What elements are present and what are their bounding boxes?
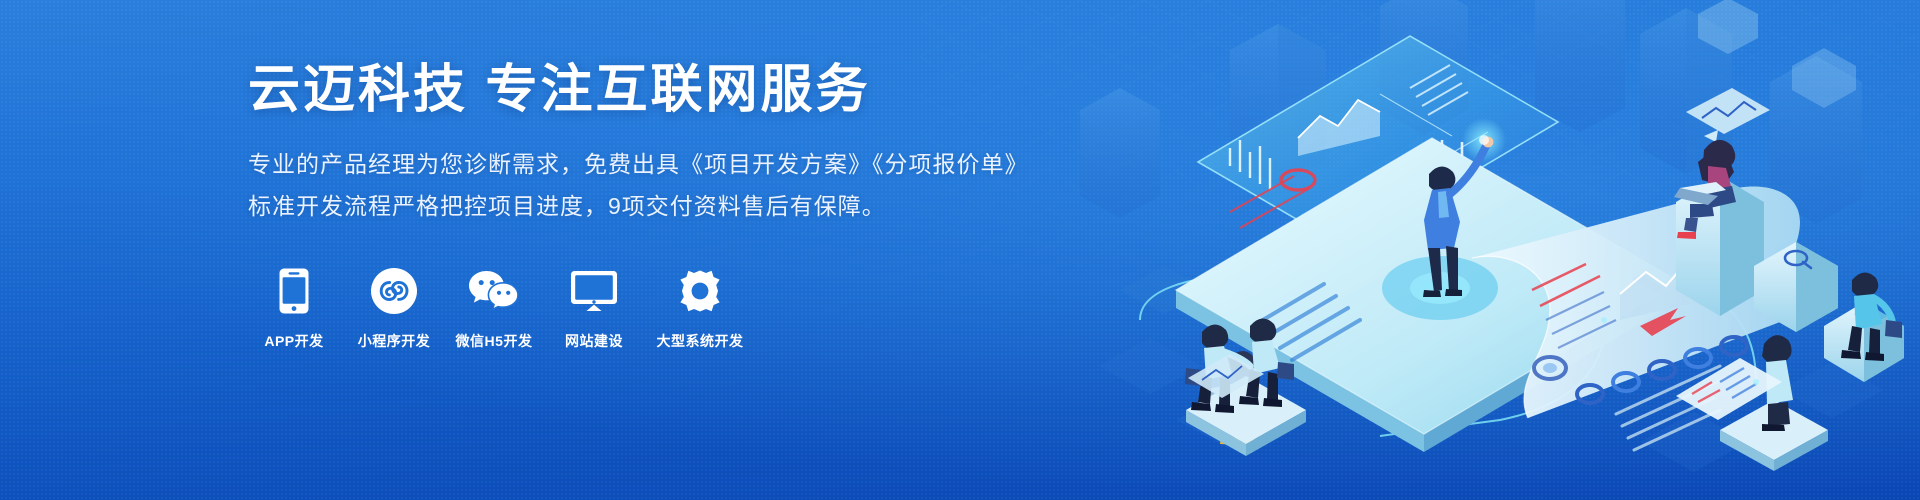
monitor-icon bbox=[548, 268, 640, 314]
smartphone-icon bbox=[248, 268, 340, 314]
wechat-icon bbox=[448, 268, 540, 314]
service-label: 小程序开发 bbox=[348, 331, 440, 351]
hero-banner: 云迈科技 专注互联网服务 专业的产品经理为您诊断需求，免费出具《项目开发方案》《… bbox=[0, 0, 1920, 500]
service-item-miniprogram[interactable]: 小程序开发 bbox=[348, 268, 440, 351]
isometric-illustration bbox=[1080, 0, 1920, 500]
service-item-website[interactable]: 网站建设 bbox=[548, 268, 640, 351]
service-item-system[interactable]: 大型系统开发 bbox=[648, 268, 752, 351]
service-item-app[interactable]: APP开发 bbox=[248, 268, 340, 351]
service-label: 微信H5开发 bbox=[448, 331, 540, 351]
service-list: APP开发 小程序开发 bbox=[248, 268, 1029, 351]
service-item-wechat[interactable]: 微信H5开发 bbox=[448, 268, 540, 351]
service-label: APP开发 bbox=[248, 331, 340, 351]
gear-icon bbox=[648, 268, 752, 314]
subtitle-line-2: 标准开发流程严格把控项目进度，9项交付资料售后有保障。 bbox=[248, 187, 1029, 227]
service-label: 大型系统开发 bbox=[648, 331, 752, 351]
subtitle-line-1: 专业的产品经理为您诊断需求，免费出具《项目开发方案》《分项报价单》 bbox=[248, 145, 1029, 185]
miniprogram-icon bbox=[348, 268, 440, 314]
service-label: 网站建设 bbox=[548, 331, 640, 351]
page-title: 云迈科技 专注互联网服务 bbox=[248, 62, 1029, 119]
hero-copy: 云迈科技 专注互联网服务 专业的产品经理为您诊断需求，免费出具《项目开发方案》《… bbox=[248, 62, 1029, 351]
